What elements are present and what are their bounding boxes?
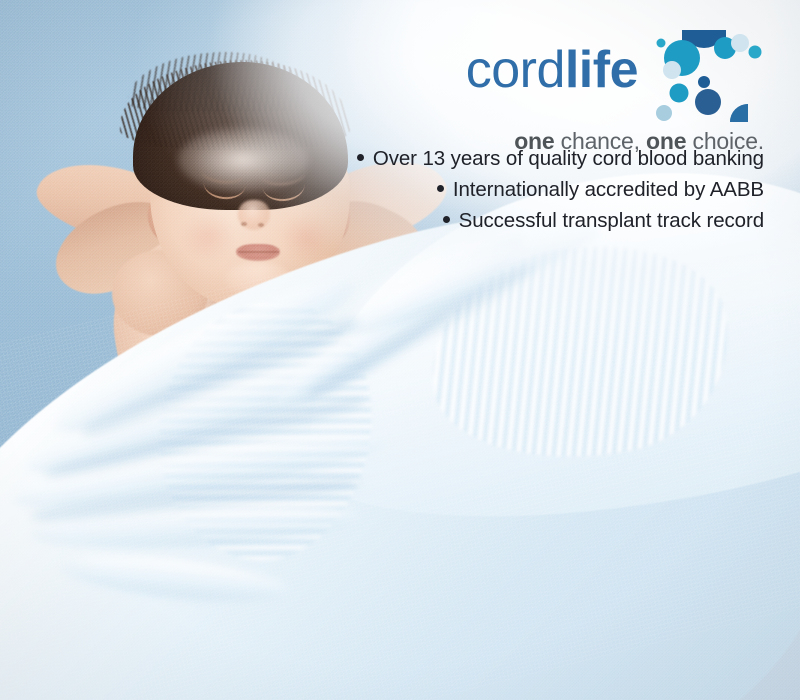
list-item: Over 13 years of quality cord blood bank… <box>304 143 764 174</box>
cordlife-circles-logo-icon <box>652 30 764 122</box>
key-points-list: Over 13 years of quality cord blood bank… <box>304 143 764 236</box>
list-item: Internationally accredited by AABB <box>304 174 764 205</box>
blanket-gathered-left <box>135 281 394 579</box>
cordlife-wordmark: cordlife <box>466 30 638 96</box>
bullet-dot-icon <box>357 154 364 161</box>
blanket-fold <box>45 260 364 451</box>
baby-left-upper-arm <box>29 148 199 260</box>
baby-left-shoulder <box>112 250 208 336</box>
baby-hair-strands-top <box>128 52 308 112</box>
baby-left-closed-eye <box>202 182 245 201</box>
baby-left-nostril <box>241 222 247 226</box>
baby-lip-line <box>238 251 279 253</box>
baby-right-shin <box>239 546 340 674</box>
baby-torso-shadow <box>191 243 334 477</box>
blanket-crease <box>301 255 539 408</box>
baby-left-shin <box>143 537 259 670</box>
blanket-fold <box>19 340 377 489</box>
blanket-fold <box>9 421 391 522</box>
list-item: Successful transplant track record <box>304 205 764 236</box>
bullet-text: Over 13 years of quality cord blood bank… <box>373 147 764 170</box>
baby-left-eyebrow <box>199 169 244 185</box>
baby-hair-strands <box>120 60 350 150</box>
baby-torso <box>103 216 348 500</box>
brand-block: cordlife <box>344 30 764 155</box>
baby-left-ear <box>143 191 182 244</box>
blanket-gathered-right <box>414 224 746 483</box>
bullet-text: Internationally accredited by AABB <box>453 178 764 201</box>
blanket-crease <box>75 307 364 447</box>
baby-left-foot <box>143 609 226 700</box>
baby-forehead-highlight <box>178 128 308 192</box>
cordlife-promo-banner: cordlife <box>0 0 800 700</box>
baby-left-thigh <box>123 446 307 613</box>
baby-chin <box>225 262 291 296</box>
bullet-text: Successful transplant track record <box>459 209 764 232</box>
wordmark-cord: cord <box>466 41 565 99</box>
bullet-dot-icon <box>443 216 450 223</box>
baby-right-thigh <box>239 447 405 603</box>
baby-right-shoulder <box>268 252 360 340</box>
blanket-fold <box>59 548 292 610</box>
wordmark-row: cordlife <box>344 30 764 122</box>
baby-left-forearm <box>41 183 191 312</box>
baby-right-nostril <box>258 223 264 227</box>
baby-mouth <box>236 244 280 261</box>
baby-nose <box>238 200 270 230</box>
baby-left-cheek <box>182 214 234 260</box>
blanket-crease <box>41 387 368 487</box>
wordmark-life: life <box>565 41 638 99</box>
bullet-dot-icon <box>437 185 444 192</box>
baby-right-eyebrow <box>262 172 307 188</box>
baby-right-foot <box>235 616 308 700</box>
blanket-fold <box>263 220 536 424</box>
blanket-fold <box>29 497 361 554</box>
baby-right-closed-eye <box>263 185 306 203</box>
blanket-crease <box>30 469 361 529</box>
